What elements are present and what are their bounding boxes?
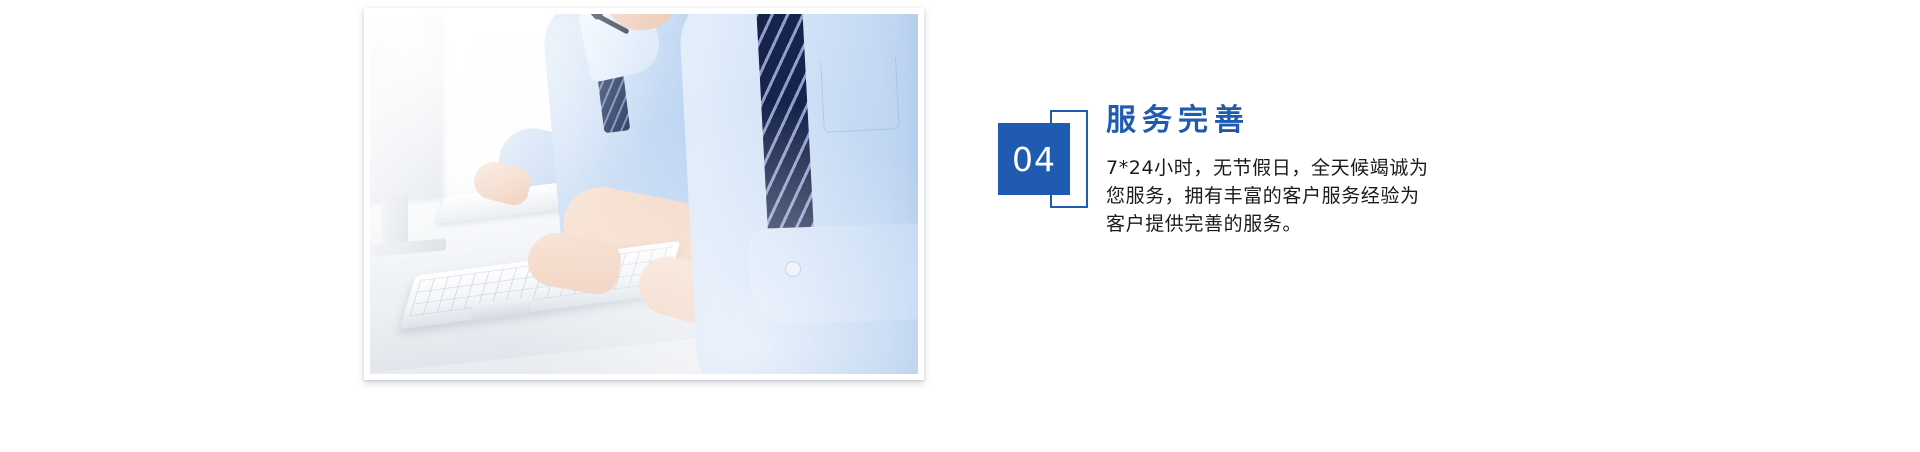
feature-text-column: 服务完善 7*24小时，无节假日，全天候竭诚为 您服务，拥有丰富的客户服务经验为… [1106, 102, 1706, 238]
feature-description-line-3: 客户提供完善的服务。 [1106, 210, 1516, 238]
feature-photo-card [364, 8, 924, 380]
feature-block-section: 04 服务完善 7*24小时，无节假日，全天候竭诚为 您服务，拥有丰富的客户服务… [0, 0, 1920, 452]
feature-description-line-1: 7*24小时，无节假日，全天候竭诚为 [1106, 154, 1516, 182]
feature-description: 7*24小时，无节假日，全天候竭诚为 您服务，拥有丰富的客户服务经验为 客户提供… [1106, 154, 1516, 238]
feature-number-badge: 04 [998, 110, 1090, 220]
badge-filled-square: 04 [998, 123, 1070, 195]
shirt-button-icon [786, 262, 800, 276]
badge-number-label: 04 [1012, 143, 1056, 176]
feature-photo [370, 14, 918, 374]
front-person-sleeve-cuff [748, 223, 918, 325]
front-person-shirt-pocket [820, 58, 900, 133]
feature-title: 服务完善 [1106, 102, 1706, 140]
monitor-icon [370, 16, 442, 202]
feature-description-line-2: 您服务，拥有丰富的客户服务经验为 [1106, 182, 1516, 210]
